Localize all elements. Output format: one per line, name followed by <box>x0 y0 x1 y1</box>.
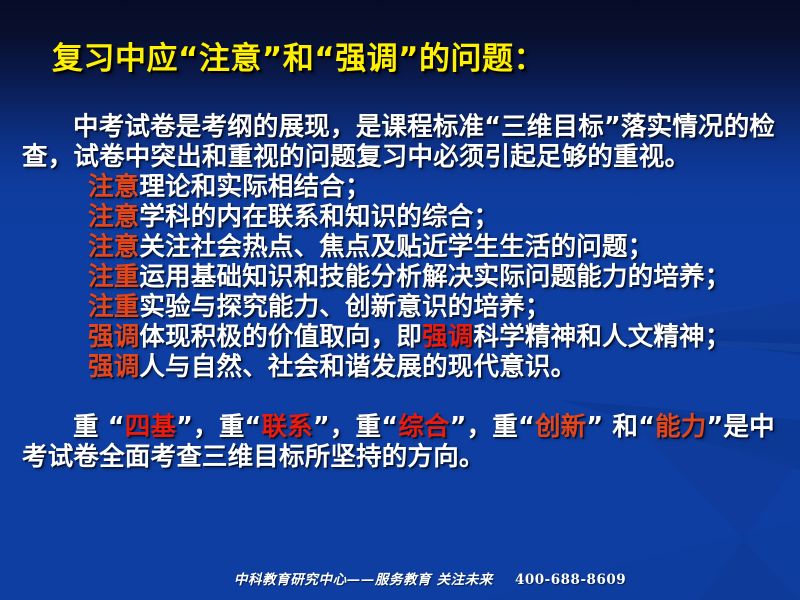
slide-footer: 中科教育研究中心——服务教育 关注未来400-688-8609 <box>0 568 800 588</box>
bullet-keyword: 注重 <box>88 262 139 292</box>
bullet-keyword: 注意 <box>88 172 139 202</box>
closing-seg-5: ” 和“ <box>586 412 655 442</box>
closing-keyword-chuangxin: 创新 <box>535 412 586 442</box>
intro-paragraph: 中考试卷是考纲的展现，是课程标准“三维目标”落实情况的检查，试卷中突出和重视的问… <box>22 112 784 172</box>
slide-body: 中考试卷是考纲的展现，是课程标准“三维目标”落实情况的检查，试卷中突出和重视的问… <box>22 112 784 472</box>
closing-keyword-nengli: 能力 <box>655 412 706 442</box>
bullet-text: 运用基础知识和技能分析解决实际问题能力的培养； <box>139 262 730 292</box>
bullet-text-b: 科学精神和人文精神； <box>474 322 731 352</box>
footer-phone: 400-688-8609 <box>515 572 626 588</box>
bullet-keyword: 注重 <box>88 292 139 322</box>
closing-seg-2: ”，重“ <box>176 412 261 442</box>
closing-seg-3: ”，重“ <box>313 412 398 442</box>
closing-keyword-sijii: 四基 <box>125 412 176 442</box>
bullet-keyword: 注意 <box>88 232 139 262</box>
paragraph-spacer <box>22 382 784 412</box>
bullet-line-3: 注意关注社会热点、焦点及贴近学生生活的问题； <box>22 232 784 262</box>
footer-organization: 中科教育研究中心——服务教育 关注未来 <box>234 572 493 588</box>
closing-keyword-lianxi: 联系 <box>261 412 312 442</box>
bullet-text: 理论和实际相结合； <box>139 172 370 202</box>
presentation-slide: 复习中应“注意”和“强调”的问题： 中考试卷是考纲的展现，是课程标准“三维目标”… <box>0 0 800 600</box>
bullet-line-6: 强调体现积极的价值取向，即强调科学精神和人文精神； <box>22 322 784 352</box>
bullet-text: 人与自然、社会和谐发展的现代意识。 <box>139 352 576 382</box>
closing-keyword-zonghe: 综合 <box>398 412 449 442</box>
bullet-line-5: 注重实验与探究能力、创新意识的培养； <box>22 292 784 322</box>
closing-seg-4: ”，重“ <box>450 412 535 442</box>
bullet-text-a: 体现积极的价值取向，即 <box>139 322 422 352</box>
bullet-text: 关注社会热点、焦点及贴近学生生活的问题； <box>139 232 653 262</box>
closing-seg-1: 重 “ <box>73 412 125 442</box>
bullet-text: 学科的内在联系和知识的综合； <box>139 202 499 232</box>
bullet-line-2: 注意学科的内在联系和知识的综合； <box>22 202 784 232</box>
bullet-text: 实验与探究能力、创新意识的培养； <box>139 292 550 322</box>
bullet-line-1: 注意理论和实际相结合； <box>22 172 784 202</box>
bullet-line-7: 强调人与自然、社会和谐发展的现代意识。 <box>22 352 784 382</box>
bullet-keyword: 强调 <box>88 352 139 382</box>
ribbon-shape-footer <box>480 520 800 600</box>
bullet-keyword-secondary: 强调 <box>422 322 473 352</box>
closing-paragraph: 重 “四基”，重“联系”，重“综合”，重“创新” 和“能力”是中考试卷全面考查三… <box>22 412 784 472</box>
bullet-keyword: 注意 <box>88 202 139 232</box>
bullet-line-4: 注重运用基础知识和技能分析解决实际问题能力的培养； <box>22 262 784 292</box>
slide-title: 复习中应“注意”和“强调”的问题： <box>0 42 800 78</box>
bullet-keyword: 强调 <box>88 322 139 352</box>
